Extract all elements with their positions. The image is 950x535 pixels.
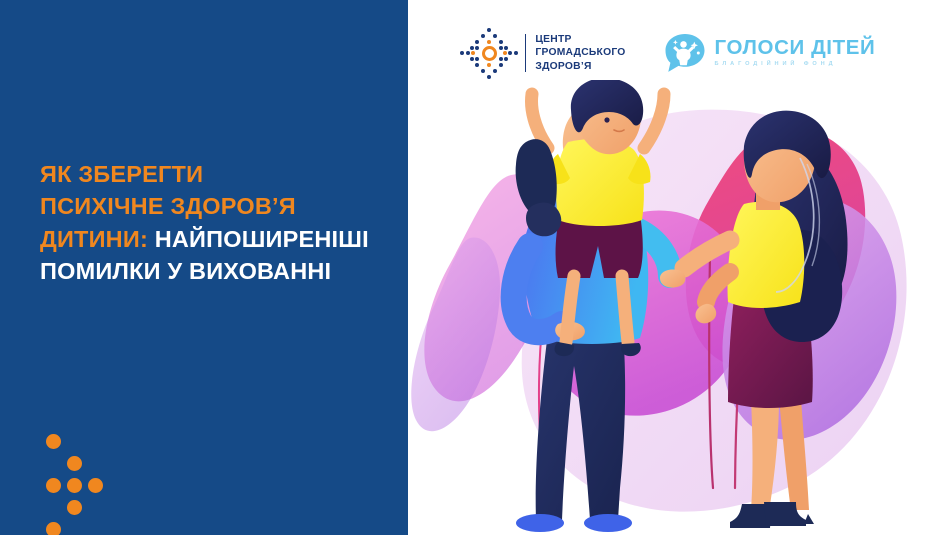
headline-line-2: ПСИХІЧНЕ ЗДОРОВ’Я xyxy=(40,190,400,222)
logo-public-health-center-text: ЦЕНТР ГРОМАДСЬКОГО ЗДОРОВ’Я xyxy=(535,33,625,73)
motif-dot-5 xyxy=(88,478,103,493)
speech-bubble-child-icon xyxy=(663,32,707,74)
motif-dot-6 xyxy=(67,500,82,515)
logo-childrens-voices-title: ГОЛОСИ ДІТЕЙ xyxy=(715,37,876,58)
logo-divider xyxy=(525,34,526,72)
left-blue-panel: ЯК ЗБЕРЕГТИ ПСИХІЧНЕ ЗДОРОВ’Я ДИТИНИ: НА… xyxy=(0,0,408,535)
family-parents-with-child-illustration xyxy=(408,80,950,535)
headline-line-3-text-white: НАЙПОШИРЕНІШІ xyxy=(148,226,369,252)
cph-line-1: ЦЕНТР xyxy=(535,33,625,46)
logo-childrens-voices: ГОЛОСИ ДІТЕЙ БЛАГОДІЙНИЙ ФОНД xyxy=(663,23,876,83)
motif-dot-7 xyxy=(46,522,61,535)
headline-line-1: ЯК ЗБЕРЕГТИ xyxy=(40,158,400,190)
motif-dot-2 xyxy=(67,456,82,471)
right-white-panel: ЦЕНТР ГРОМАДСЬКОГО ЗДОРОВ’Я xyxy=(408,0,950,535)
dot-matrix-circle-icon xyxy=(460,26,518,80)
motif-dot-1 xyxy=(46,434,61,449)
headline-line-3-text-orange: ДИТИНИ: xyxy=(40,226,148,252)
orange-dot-diamond-motif xyxy=(46,434,126,530)
dot-matrix-ring xyxy=(482,46,497,61)
logo-public-health-center: ЦЕНТР ГРОМАДСЬКОГО ЗДОРОВ’Я xyxy=(460,23,626,83)
slide-canvas: ЯК ЗБЕРЕГТИ ПСИХІЧНЕ ЗДОРОВ’Я ДИТИНИ: НА… xyxy=(0,0,950,535)
logo-row: ЦЕНТР ГРОМАДСЬКОГО ЗДОРОВ’Я xyxy=(460,22,875,84)
cph-line-3: ЗДОРОВ’Я xyxy=(535,60,625,73)
motif-dot-3 xyxy=(46,478,61,493)
motif-dot-4 xyxy=(67,478,82,493)
page-title: ЯК ЗБЕРЕГТИ ПСИХІЧНЕ ЗДОРОВ’Я ДИТИНИ: НА… xyxy=(40,158,400,288)
cph-line-2: ГРОМАДСЬКОГО xyxy=(535,46,625,59)
headline-line-3: ДИТИНИ: НАЙПОШИРЕНІШІ xyxy=(40,223,400,255)
headline-line-1-text: ЯК ЗБЕРЕГТИ xyxy=(40,161,203,187)
logo-childrens-voices-text: ГОЛОСИ ДІТЕЙ БЛАГОДІЙНИЙ ФОНД xyxy=(715,37,876,69)
headline-line-4-text: ПОМИЛКИ У ВИХОВАННІ xyxy=(40,258,331,284)
headline-line-4: ПОМИЛКИ У ВИХОВАННІ xyxy=(40,255,400,287)
logo-childrens-voices-subtitle: БЛАГОДІЙНИЙ ФОНД xyxy=(715,60,876,69)
headline-line-2-text: ПСИХІЧНЕ ЗДОРОВ’Я xyxy=(40,193,296,219)
